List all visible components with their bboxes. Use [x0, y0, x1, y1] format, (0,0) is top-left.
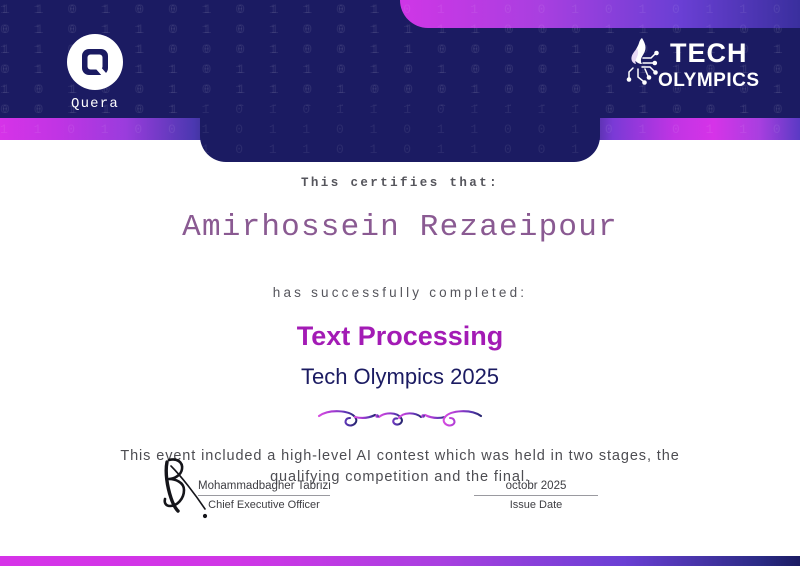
issue-date-value: octobr 2025: [474, 480, 598, 495]
ornamental-flourish-divider-icon: [305, 406, 495, 432]
event-title: Tech Olympics 2025: [0, 364, 800, 390]
recipient-name: Amirhossein Rezaeipour: [0, 210, 800, 245]
completed-label: has successfully completed:: [0, 285, 800, 300]
quera-q-logo-icon: [67, 34, 123, 90]
signature-row: Mohammadbagher Tabrizi Chief Executive O…: [0, 452, 800, 532]
issue-date-block: octobr 2025 Issue Date: [474, 480, 598, 511]
svg-text:OLYMPICS: OLYMPICS: [658, 70, 760, 91]
flourish-divider: [0, 406, 800, 432]
signer-title: Chief Executive Officer: [198, 496, 330, 511]
footer-accent-strip: [0, 556, 800, 566]
quera-logo: Quera: [56, 34, 134, 112]
binary-row: 1 1 0 1 0 0 1 0 1 1 0 1 0 1 1 0 0 1 0 1 …: [0, 0, 800, 20]
svg-text:TECH: TECH: [670, 38, 748, 68]
flame-circuit-icon: TECH OLYMPICS: [612, 34, 762, 96]
tech-olympics-logo: TECH OLYMPICS: [612, 34, 762, 96]
quera-wordmark: Quera: [56, 96, 134, 112]
certificate: 1 1 0 1 0 0 1 0 1 1 0 1 0 1 1 0 0 1 0 1 …: [0, 0, 800, 566]
signer-block: Mohammadbagher Tabrizi Chief Executive O…: [198, 480, 330, 511]
binary-row: 1 1 0 1 0 0 1 0 1 1 0 1 0 1 1 0 0 1 0 1 …: [0, 120, 800, 140]
course-title: Text Processing: [0, 321, 800, 352]
certifies-label: This certifies that:: [0, 176, 800, 190]
signer-name: Mohammadbagher Tabrizi: [198, 480, 330, 495]
issue-date-label: Issue Date: [474, 496, 598, 511]
